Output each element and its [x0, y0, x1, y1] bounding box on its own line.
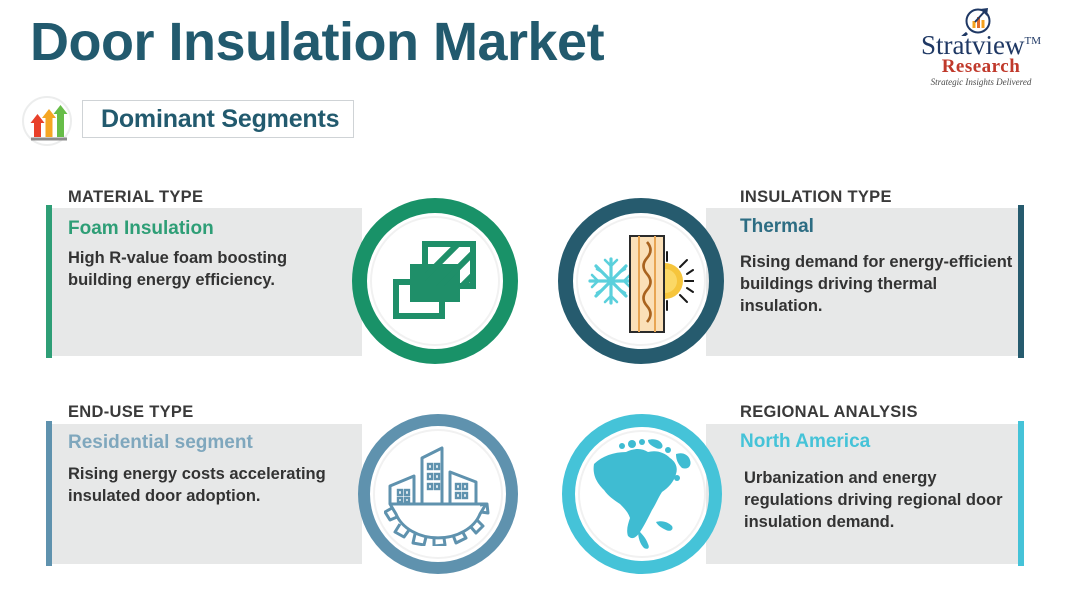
card-icon-circle	[562, 414, 722, 574]
card-accent-bar	[1018, 421, 1024, 566]
card-kicker: MATERIAL TYPE	[68, 188, 203, 207]
card-kicker: INSULATION TYPE	[740, 188, 892, 207]
stratview-research-logo: StratviewTM Research Strategic Insights …	[906, 8, 1056, 84]
badge-label: Dominant Segments	[101, 105, 339, 134]
logo-trademark: TM	[1024, 35, 1041, 47]
card-accent-bar	[46, 205, 52, 358]
badge-box: Dominant Segments	[82, 100, 354, 138]
card-accent-bar	[1018, 205, 1024, 358]
card-subhead: Foam Insulation	[68, 218, 214, 240]
logo-tagline: Strategic Insights Delivered	[906, 77, 1056, 87]
infographic-page: Door Insulation Market Dominant Segments	[0, 0, 1070, 602]
ascending-bar-arrows-icon	[22, 96, 72, 146]
card-subhead: North America	[740, 431, 870, 453]
buildings-gear-icon	[384, 442, 492, 546]
card-icon-circle	[558, 198, 724, 364]
card-icon-circle	[358, 414, 518, 574]
insulation-panels-icon	[392, 238, 478, 324]
card-subhead: Residential segment	[68, 432, 253, 454]
card-body: High R-value foam boosting building ener…	[68, 248, 336, 292]
card-kicker: REGIONAL ANALYSIS	[740, 403, 918, 422]
logo-name-sub: Research	[906, 56, 1056, 78]
card-kicker: END-USE TYPE	[68, 403, 194, 422]
page-title: Door Insulation Market	[30, 14, 604, 71]
card-accent-bar	[46, 421, 52, 566]
snowflake-sun-insulation-icon	[588, 226, 694, 336]
card-subhead: Thermal	[740, 216, 814, 238]
card-body: Urbanization and energy regulations driv…	[744, 468, 1016, 533]
north-america-map-icon	[582, 434, 702, 554]
card-body: Rising energy costs accelerating insulat…	[68, 464, 340, 508]
card-icon-circle	[352, 198, 518, 364]
card-body: Rising demand for energy-efficient build…	[740, 252, 1014, 317]
